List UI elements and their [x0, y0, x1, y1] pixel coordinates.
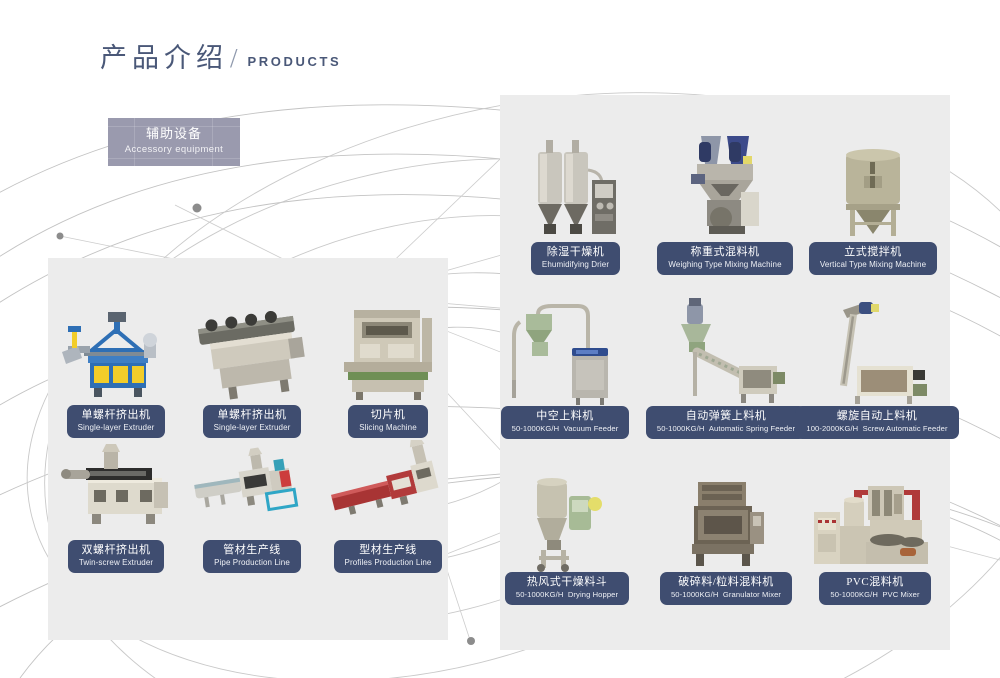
product-catalog-page: 产品介绍 / PRODUCTS 辅助设备 Accessory equipment [0, 0, 1000, 678]
screw-feeder-icon [803, 296, 951, 406]
product-tag[interactable]: 热风式干燥料斗 50-1000KG/H Drying Hopper [505, 572, 629, 605]
product-label-cn: 单螺杆挤出机 [214, 409, 291, 422]
product-label-en: 50-1000KG/H Drying Hopper [516, 589, 618, 600]
granulator-mixer-icon [658, 468, 794, 572]
product-tag[interactable]: 双螺杆挤出机 Twin-screw Extruder [68, 540, 164, 573]
product-label-cn: 除湿干燥机 [542, 246, 609, 259]
product-tag[interactable]: 自动弹簧上料机 50-1000KG/H Automatic Spring Fee… [646, 406, 806, 439]
product-label-en: Single-layer Extruder [78, 422, 155, 433]
product-label-cn: 螺旋自动上料机 [806, 410, 947, 423]
product-tag[interactable]: 称重式混料机 Weighing Type Mixing Machine [657, 242, 792, 275]
page-title: 产品介绍 / PRODUCTS [100, 45, 341, 72]
product-label-en: Vertical Type Mixing Machine [820, 259, 926, 270]
product-cell-weighing-mixer[interactable]: 称重式混料机 Weighing Type Mixing Machine [665, 130, 785, 275]
product-tag[interactable]: 单螺杆挤出机 Single-layer Extruder [203, 405, 302, 438]
product-cell-pvc-mixer[interactable]: PVC混料机 50-1000KG/H PVC Mixer [806, 468, 944, 605]
product-cell-slicing-machine[interactable]: 切片机 Slicing Machine [330, 300, 446, 438]
drying-hopper-icon [503, 468, 631, 572]
product-tag[interactable]: 单螺杆挤出机 Single-layer Extruder [67, 405, 166, 438]
profiles-production-line-icon [330, 440, 446, 540]
product-cell-screw-feeder[interactable]: 螺旋自动上料机 100-2000KG/H Screw Automatic Fee… [803, 296, 951, 439]
product-tag[interactable]: 除湿干燥机 Ehumidifying Drier [531, 242, 620, 275]
product-label-cn: 双螺杆挤出机 [79, 544, 153, 557]
product-label-cn: 切片机 [359, 409, 417, 422]
product-tag[interactable]: 破碎料/粒料混料机 50-1000KG/H Granulator Mixer [660, 572, 792, 605]
product-label-cn: 称重式混料机 [668, 246, 781, 259]
product-cell-single-layer-extruder-2[interactable]: 单螺杆挤出机 Single-layer Extruder [194, 300, 310, 438]
product-label-en: Weighing Type Mixing Machine [668, 259, 781, 270]
product-tag[interactable]: 螺旋自动上料机 100-2000KG/H Screw Automatic Fee… [795, 406, 958, 439]
product-label-en: Twin-screw Extruder [79, 557, 153, 568]
product-label-cn: 中空上料机 [512, 410, 619, 423]
product-label-en: 100-2000KG/H Screw Automatic Feeder [806, 423, 947, 434]
product-label-en: Ehumidifying Drier [542, 259, 609, 270]
product-cell-pipe-production-line[interactable]: 管材生产线 Pipe Production Line [194, 440, 310, 573]
product-cell-granulator-mixer[interactable]: 破碎料/粒料混料机 50-1000KG/H Granulator Mixer [658, 468, 794, 605]
product-tag[interactable]: 型材生产线 Profiles Production Line [334, 540, 443, 573]
product-cell-profiles-production-line[interactable]: 型材生产线 Profiles Production Line [330, 440, 446, 573]
product-tag[interactable]: 立式搅拌机 Vertical Type Mixing Machine [809, 242, 937, 275]
product-cell-dehumidifying-drier[interactable]: 除湿干燥机 Ehumidifying Drier [518, 130, 633, 275]
product-tag[interactable]: 管材生产线 Pipe Production Line [203, 540, 301, 573]
page-title-cn: 产品介绍 [100, 45, 228, 72]
product-label-en: 50-1000KG/H Automatic Spring Feeder [657, 423, 795, 434]
single-layer-extruder-roller-icon [194, 300, 310, 405]
page-title-en: PRODUCTS [248, 54, 342, 72]
product-label-cn: 型材生产线 [345, 544, 432, 557]
product-label-en: 50-1000KG/H Granulator Mixer [671, 589, 781, 600]
product-label-en: Profiles Production Line [345, 557, 432, 568]
product-label-en: Slicing Machine [359, 422, 417, 433]
product-cell-spring-feeder[interactable]: 自动弹簧上料机 50-1000KG/H Automatic Spring Fee… [653, 296, 799, 439]
spring-feeder-icon [653, 296, 799, 406]
product-label-cn: 热风式干燥料斗 [516, 576, 618, 589]
vertical-mixer-icon [812, 130, 934, 242]
product-label-en: Pipe Production Line [214, 557, 290, 568]
product-tag[interactable]: PVC混料机 50-1000KG/H PVC Mixer [819, 572, 930, 605]
product-label-cn: 单螺杆挤出机 [78, 409, 155, 422]
product-cell-drying-hopper[interactable]: 热风式干燥料斗 50-1000KG/H Drying Hopper [503, 468, 631, 605]
pipe-production-line-icon [194, 440, 310, 540]
product-label-en: 50-1000KG/H PVC Mixer [830, 589, 919, 600]
title-separator: / [230, 45, 238, 72]
product-label-cn: 自动弹簧上料机 [657, 410, 795, 423]
product-cell-vertical-mixer[interactable]: 立式搅拌机 Vertical Type Mixing Machine [812, 130, 934, 275]
pvc-mixer-icon [806, 468, 944, 572]
dehumidifying-drier-icon [518, 130, 633, 242]
product-cell-twin-screw-extruder[interactable]: 双螺杆挤出机 Twin-screw Extruder [58, 440, 174, 573]
product-label-cn: 立式搅拌机 [820, 246, 926, 259]
single-screw-extruder-icon [58, 300, 174, 405]
twin-screw-extruder-icon [58, 440, 174, 540]
vacuum-feeder-icon [498, 296, 632, 406]
accessory-equipment-badge: 辅助设备 Accessory equipment [108, 118, 240, 166]
product-label-cn: PVC混料机 [830, 576, 919, 589]
product-label-en: 50-1000KG/H Vacuum Feeder [512, 423, 619, 434]
slicing-machine-icon [330, 300, 446, 405]
product-label-en: Single-layer Extruder [214, 422, 291, 433]
product-tag[interactable]: 切片机 Slicing Machine [348, 405, 428, 438]
badge-grid-decoration [108, 118, 240, 166]
weighing-mixer-icon [665, 130, 785, 242]
product-label-cn: 管材生产线 [214, 544, 290, 557]
product-tag[interactable]: 中空上料机 50-1000KG/H Vacuum Feeder [501, 406, 630, 439]
product-cell-single-layer-extruder-1[interactable]: 单螺杆挤出机 Single-layer Extruder [58, 300, 174, 438]
product-cell-vacuum-feeder[interactable]: 中空上料机 50-1000KG/H Vacuum Feeder [498, 296, 632, 439]
product-label-cn: 破碎料/粒料混料机 [671, 576, 781, 589]
